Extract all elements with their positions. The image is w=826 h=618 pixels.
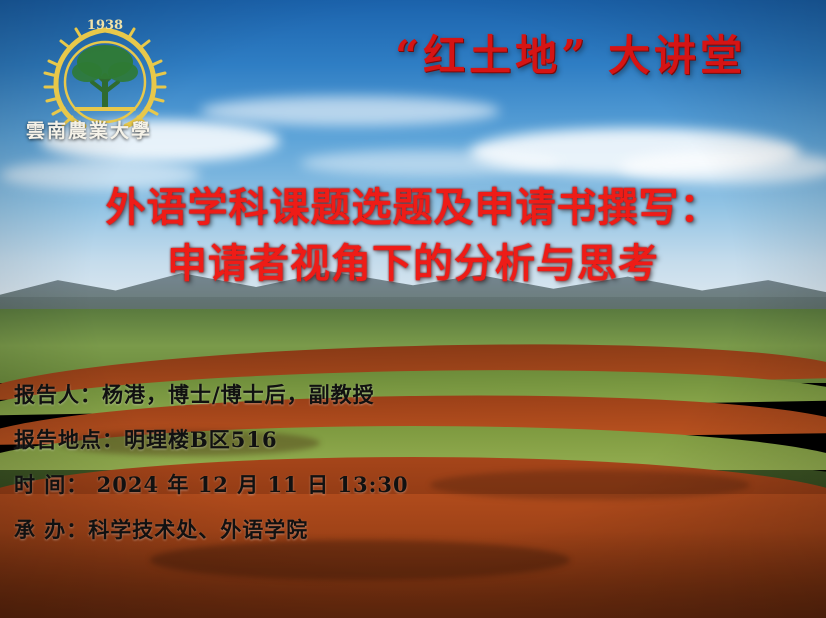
time-line: 时 间： 2024 年 12 月 11 日 13:30: [14, 462, 614, 507]
organizer-line: 承 办：科学技术处、外语学院: [14, 507, 614, 552]
poster-title: 外语学科课题选题及申请书撰写： 申请者视角下的分析与思考: [0, 180, 826, 292]
lecture-details: 报告人：杨港，博士/博士后，副教授 报告地点：明理楼B区516 时 间： 202…: [14, 372, 614, 552]
lecture-poster: 1938 雲南農業大學 “红土地” 大讲堂 外语学科课题选题及申请书撰写： 申请…: [0, 0, 826, 618]
logo-year-text: 1938: [87, 18, 123, 33]
title-line-1: 外语学科课题选题及申请书撰写：: [0, 180, 826, 236]
lecture-series-title: “红土地” 大讲堂: [395, 22, 746, 83]
title-line-2: 申请者视角下的分析与思考: [0, 236, 826, 292]
speaker-line: 报告人：杨港，博士/博士后，副教授: [14, 372, 614, 417]
university-name-text: 雲南農業大學: [26, 116, 186, 143]
location-line: 报告地点：明理楼B区516: [14, 417, 614, 462]
